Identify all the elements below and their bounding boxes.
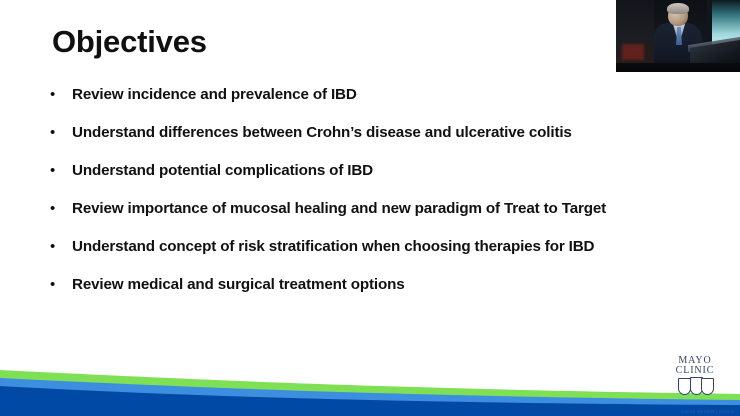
page-title: Objectives (52, 26, 207, 57)
bullet-dot-icon: • (48, 198, 72, 220)
presenter-video-thumbnail[interactable] (616, 0, 740, 72)
mayo-three-shields-icon (678, 378, 712, 394)
list-item: • Understand differences between Crohn’s… (48, 122, 688, 144)
list-item-text: Review medical and surgical treatment op… (72, 274, 688, 296)
shield-icon (701, 378, 714, 395)
video-red-accent (622, 44, 644, 60)
video-left-wall (616, 0, 654, 72)
presentation-slide: Objectives • Review incidence and preval… (0, 0, 740, 416)
list-item: • Review incidence and prevalence of IBD (48, 84, 688, 106)
list-item: • Review medical and surgical treatment … (48, 274, 688, 296)
list-item-text: Understand concept of risk stratificatio… (72, 236, 688, 258)
bullet-dot-icon: • (48, 84, 72, 106)
list-item: • Review importance of mucosal healing a… (48, 198, 688, 220)
list-item-text: Review importance of mucosal healing and… (72, 198, 688, 220)
bullet-dot-icon: • (48, 122, 72, 144)
list-item: • Understand potential complications of … (48, 160, 688, 182)
video-floor (616, 63, 740, 72)
objectives-bullet-list: • Review incidence and prevalence of IBD… (48, 84, 688, 312)
list-item-text: Understand differences between Crohn’s d… (72, 122, 688, 144)
mayo-clinic-logo: MAYO CLINIC (664, 356, 726, 394)
copyright-text: ©2016 MFMER | slide-2 (681, 409, 734, 414)
footer-wave-decoration (0, 350, 740, 416)
presenter-hair (667, 3, 689, 14)
wave-graphic (0, 350, 740, 416)
list-item-text: Understand potential complications of IB… (72, 160, 688, 182)
bullet-dot-icon: • (48, 236, 72, 258)
list-item: • Understand concept of risk stratificat… (48, 236, 688, 258)
logo-text-clinic: CLINIC (664, 366, 726, 376)
bullet-dot-icon: • (48, 274, 72, 296)
list-item-text: Review incidence and prevalence of IBD (72, 84, 688, 106)
bullet-dot-icon: • (48, 160, 72, 182)
